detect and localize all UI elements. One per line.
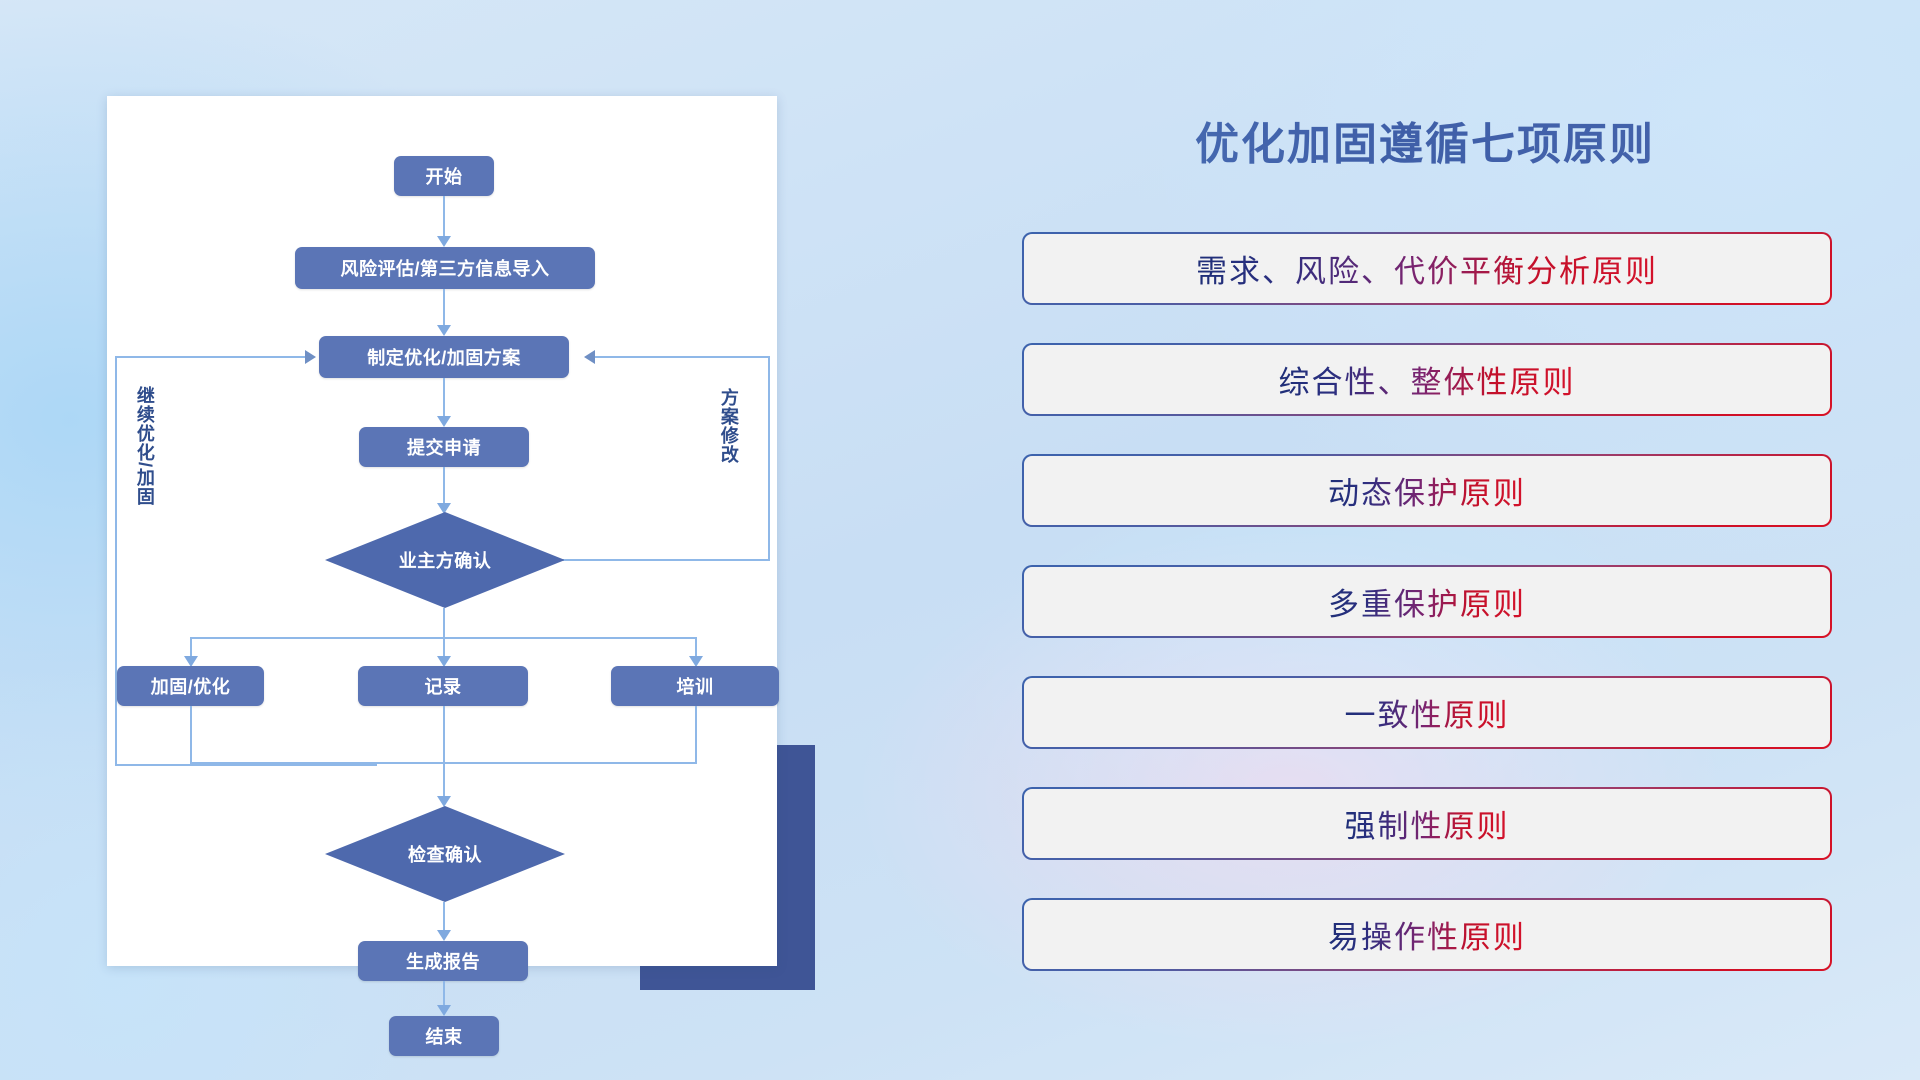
flowchart-panel: 开始 风险评估/第三方信息导入 制定优化/加固方案 继续优化/加固 [107,96,777,966]
arrow-risk-to-plan [437,325,451,336]
flow-node-plan[interactable]: 制定优化/加固方案 [319,336,569,378]
principle-label: 需求、风险、代价平衡分析原则 [1196,246,1658,291]
slide-root: 开始 风险评估/第三方信息导入 制定优化/加固方案 继续优化/加固 [0,0,1920,1080]
principle-card[interactable]: 综合性、整体性原则 [1022,343,1832,416]
edge-label-continue-optimize: 继续优化/加固 [135,386,154,506]
principle-card[interactable]: 需求、风险、代价平衡分析原则 [1022,232,1832,305]
arrow-plan-to-submit [437,416,451,427]
principle-label: 动态保护原则 [1328,468,1526,513]
connector-reinforce-down [190,706,192,764]
flow-node-record[interactable]: 记录 [358,666,528,706]
flow-node-risk-assessment-label: 风险评估/第三方信息导入 [341,255,550,281]
principle-card[interactable]: 一致性原则 [1022,676,1832,749]
flow-node-report-label: 生成报告 [406,948,480,974]
flow-node-plan-label: 制定优化/加固方案 [367,344,521,370]
principle-card-inner: 一致性原则 [1024,678,1830,747]
flow-decision-owner-confirm-label: 业主方确认 [399,547,492,573]
principle-label: 一致性原则 [1345,690,1510,735]
flow-node-reinforce[interactable]: 加固/优化 [117,666,264,706]
flow-node-risk-assessment[interactable]: 风险评估/第三方信息导入 [295,247,595,289]
flow-node-training[interactable]: 培训 [611,666,779,706]
arrow-loop-left-into-plan [305,350,316,364]
principle-card-inner: 多重保护原则 [1024,567,1830,636]
flow-node-record-label: 记录 [425,673,462,699]
flow-node-report[interactable]: 生成报告 [358,941,528,981]
principles-list: 需求、风险、代价平衡分析原则 综合性、整体性原则 动态保护原则 多重保护原则 一… [1022,232,1832,1009]
loop-left-bottom-horizontal [115,764,377,766]
arrow-report-to-end [437,1005,451,1016]
page-title: 优化加固遵循七项原则 [1030,108,1820,172]
principle-card-inner: 需求、风险、代价平衡分析原则 [1024,234,1830,303]
principle-card-inner: 动态保护原则 [1024,456,1830,525]
principle-label: 易操作性原则 [1328,912,1526,957]
connector-owner-confirm-to-right-loop [564,559,769,561]
flow-node-reinforce-label: 加固/优化 [151,673,231,699]
loop-right-horizontal-into-plan [595,356,770,358]
flow-decision-check-confirm[interactable]: 检查确认 [325,806,565,902]
principle-card[interactable]: 强制性原则 [1022,787,1832,860]
loop-left-horizontal-into-plan [115,356,307,358]
edge-label-plan-revise: 方案修改 [719,388,738,464]
principle-card[interactable]: 易操作性原则 [1022,898,1832,971]
connector-owner-confirm-down [443,608,445,638]
principle-card[interactable]: 动态保护原则 [1022,454,1832,527]
principle-label: 强制性原则 [1345,801,1510,846]
principle-label: 综合性、整体性原则 [1279,357,1576,402]
flow-node-start-label: 开始 [426,163,463,189]
arrow-check-to-report [437,930,451,941]
connector-record-to-check [443,706,445,804]
arrow-start-to-risk [437,236,451,247]
principle-card-inner: 综合性、整体性原则 [1024,345,1830,414]
flow-node-start[interactable]: 开始 [394,156,494,196]
flow-node-training-label: 培训 [677,673,714,699]
principle-card-inner: 强制性原则 [1024,789,1830,858]
loop-right-vertical [768,356,770,561]
flow-node-submit-label: 提交申请 [407,434,481,460]
principle-label: 多重保护原则 [1328,579,1526,624]
connector-training-down [695,706,697,764]
flow-node-end[interactable]: 结束 [389,1016,499,1056]
flow-node-end-label: 结束 [426,1023,463,1049]
flow-decision-owner-confirm[interactable]: 业主方确认 [325,512,565,608]
flow-decision-check-confirm-label: 检查确认 [408,841,482,867]
flowchart-canvas: 开始 风险评估/第三方信息导入 制定优化/加固方案 继续优化/加固 [107,96,777,966]
arrow-loop-right-into-plan [584,350,595,364]
flow-node-submit[interactable]: 提交申请 [359,427,529,467]
loop-left-vertical [115,356,117,766]
principle-card[interactable]: 多重保护原则 [1022,565,1832,638]
principle-card-inner: 易操作性原则 [1024,900,1830,969]
